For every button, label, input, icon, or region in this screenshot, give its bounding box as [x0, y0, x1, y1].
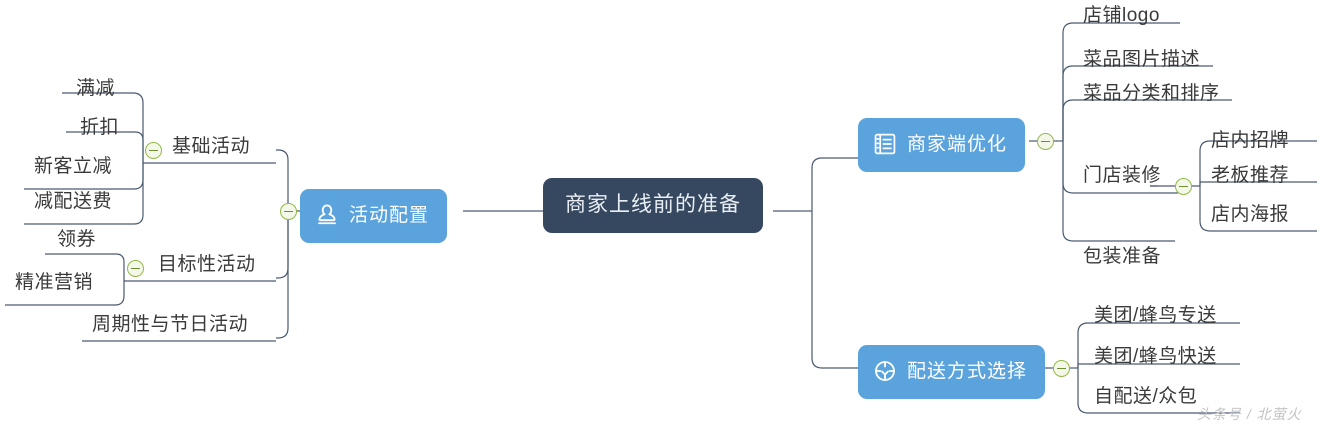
leaf-node-periodic-festival-activity[interactable]: 周期性与节日活动 [86, 313, 254, 340]
branch-node-delivery-method-label: 配送方式选择 [907, 362, 1027, 381]
toggle-store-decoration[interactable] [1175, 178, 1192, 195]
document-list-icon [872, 131, 898, 157]
branch-node-activity-config[interactable]: 活动配置 [300, 189, 447, 243]
leaf-node-jingzhun-yingxiao[interactable]: 精准营销 [9, 271, 99, 298]
watermark: 头条号 / 北萤火 [1197, 404, 1302, 424]
branch-node-merchant-optimization-label: 商家端优化 [907, 135, 1007, 154]
leaf-node-store-logo[interactable]: 店铺logo [1077, 4, 1166, 31]
leaf-node-in-store-signboard[interactable]: 店内招牌 [1205, 129, 1295, 156]
branch-node-merchant-optimization[interactable]: 商家端优化 [858, 118, 1025, 172]
mindmap-canvas: 商家上线前的准备 活动配置 基础活动 满减 折扣 新客立减 减配送费 目标性活动… [0, 0, 1323, 425]
toggle-basic-activity[interactable] [145, 142, 162, 159]
toggle-merchant-optimization[interactable] [1037, 133, 1054, 150]
leaf-node-lingquan[interactable]: 领券 [51, 228, 102, 255]
person-icon [314, 202, 340, 228]
leaf-node-dish-category-sorting[interactable]: 菜品分类和排序 [1077, 82, 1226, 109]
leaf-node-xinke-lijian[interactable]: 新客立减 [28, 155, 118, 182]
branch-node-activity-config-label: 活动配置 [349, 206, 429, 225]
leaf-node-meituan-fengniao-kuaisong[interactable]: 美团/蜂鸟快送 [1088, 345, 1223, 372]
leaf-node-jian-peisongfei[interactable]: 减配送费 [28, 190, 118, 217]
leaf-node-dish-image-description[interactable]: 菜品图片描述 [1077, 48, 1206, 75]
toggle-delivery-method[interactable] [1053, 360, 1070, 377]
group-node-target-activity-label: 目标性活动 [158, 254, 256, 275]
root-node-label: 商家上线前的准备 [565, 193, 741, 216]
leaf-node-packaging-preparation[interactable]: 包装准备 [1077, 245, 1167, 272]
leaf-node-manjian[interactable]: 满减 [70, 77, 121, 104]
branch-node-delivery-method[interactable]: 配送方式选择 [858, 345, 1045, 399]
leaf-node-boss-recommendation[interactable]: 老板推荐 [1205, 164, 1295, 191]
root-node[interactable]: 商家上线前的准备 [543, 178, 763, 233]
group-node-basic-activity[interactable]: 基础活动 [166, 135, 256, 162]
toggle-activity-config[interactable] [280, 203, 297, 220]
leaf-node-meituan-fengniao-zhuansong[interactable]: 美团/蜂鸟专送 [1088, 304, 1223, 331]
leaf-node-self-delivery-crowdsourcing[interactable]: 自配送/众包 [1088, 385, 1203, 412]
group-node-store-decoration[interactable]: 门店装修 [1077, 164, 1167, 191]
group-node-basic-activity-label: 基础活动 [172, 136, 250, 157]
toggle-target-activity[interactable] [127, 260, 144, 277]
target-icon [872, 358, 898, 384]
group-node-store-decoration-label: 门店装修 [1083, 165, 1161, 186]
leaf-node-in-store-poster[interactable]: 店内海报 [1205, 203, 1295, 230]
leaf-node-zhekou[interactable]: 折扣 [74, 116, 125, 143]
group-node-target-activity[interactable]: 目标性活动 [152, 253, 262, 280]
